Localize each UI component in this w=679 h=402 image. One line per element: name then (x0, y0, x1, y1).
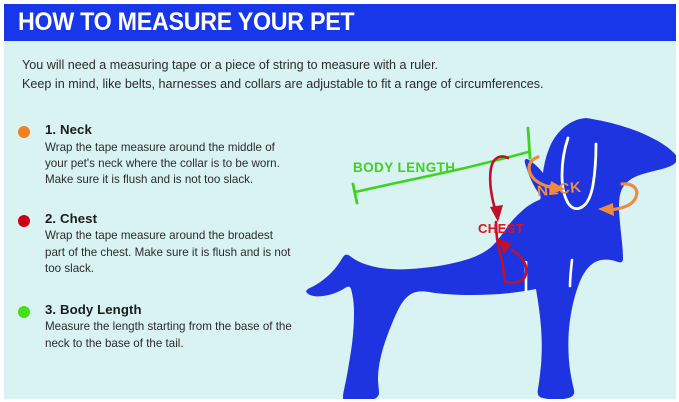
infographic-page: HOW TO MEASURE YOUR PET You will need a … (0, 0, 679, 402)
step-body-body-length: Measure the length starting from the bas… (45, 319, 308, 352)
steps-list: 1. Neck Wrap the tape measure around the… (18, 122, 308, 371)
step-body-body-length-line-2: neck to the base of the tail. (45, 336, 308, 352)
page-title: HOW TO MEASURE YOUR PET (18, 10, 354, 35)
label-body-length: BODY LENGTH (353, 160, 455, 175)
step-item-neck: 1. Neck Wrap the tape measure around the… (18, 122, 308, 189)
header-bar: HOW TO MEASURE YOUR PET (4, 4, 676, 41)
step-body-body-length-line-1: Measure the length starting from the bas… (45, 319, 308, 335)
step-title-neck: 1. Neck (45, 122, 308, 139)
body-length-end-cap-right (528, 128, 530, 158)
dog-measurement-diagram: BODY LENGTH NECK CHEST (300, 110, 679, 402)
step-body-neck: Wrap the tape measure around the middle … (45, 140, 308, 189)
step-item-chest: 2. Chest Wrap the tape measure around th… (18, 211, 308, 278)
intro-text: You will need a measuring tape or a piec… (22, 56, 662, 94)
step-item-body-length: 3. Body Length Measure the length starti… (18, 302, 308, 352)
chest-arrow-head-top (490, 205, 503, 222)
bullet-icon-chest (18, 215, 30, 227)
step-body-chest: Wrap the tape measure around the broades… (45, 228, 308, 277)
body-length-end-cap-left (353, 184, 357, 203)
bullet-icon-neck (18, 126, 30, 138)
step-title-chest: 2. Chest (45, 211, 308, 228)
step-body-neck-line-2: your pet's neck where the collar is to b… (45, 156, 308, 172)
step-body-chest-line-2: part of the chest. Make sure it is flush… (45, 245, 308, 261)
label-chest: CHEST (478, 221, 524, 236)
intro-line-2: Keep in mind, like belts, harnesses and … (22, 75, 662, 94)
step-body-neck-line-1: Wrap the tape measure around the middle … (45, 140, 308, 156)
dog-diagram-svg (300, 110, 679, 402)
step-body-chest-line-1: Wrap the tape measure around the broades… (45, 228, 308, 244)
step-body-neck-line-3: Make sure it is flush and is not too sla… (45, 172, 308, 188)
step-title-body-length: 3. Body Length (45, 302, 308, 319)
step-body-chest-line-3: too slack. (45, 261, 308, 277)
chest-measure-arc-top (490, 156, 508, 209)
bullet-icon-body-length (18, 306, 30, 318)
intro-line-1: You will need a measuring tape or a piec… (22, 56, 662, 75)
